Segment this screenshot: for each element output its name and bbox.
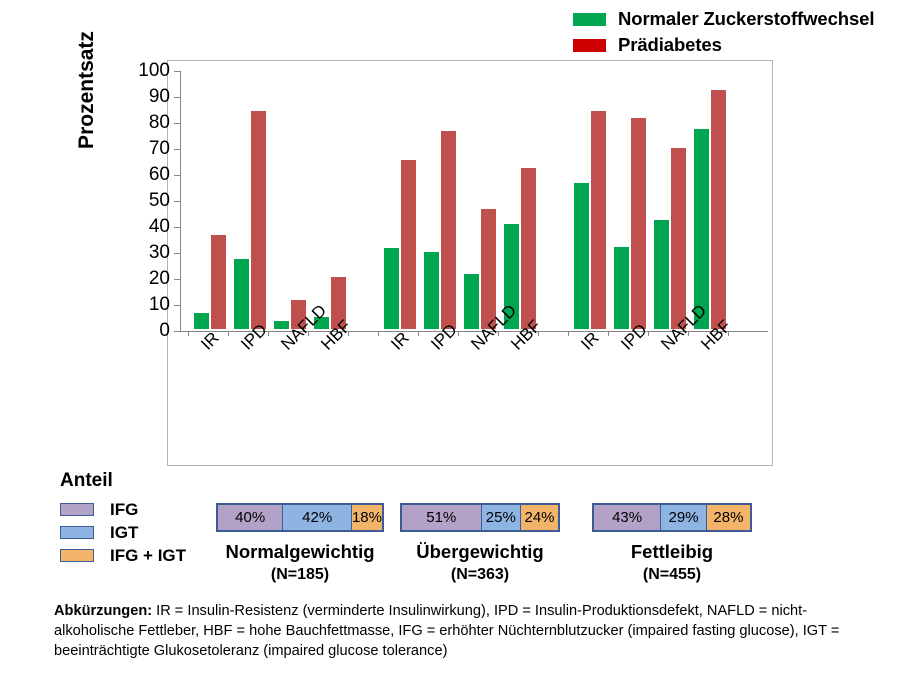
proportion-segment-ifg-plus-igt: 24%	[521, 505, 558, 530]
y-tick-label: 90	[128, 87, 170, 106]
legend-swatch-icon	[573, 13, 606, 26]
bar-praediabetes-fettleibig-ipd	[631, 118, 646, 329]
y-tick-label: 30	[128, 243, 170, 262]
legend-item-label: Prädiabetes	[618, 34, 722, 56]
bar-normal-normalgewichtig-ipd	[234, 259, 249, 329]
legend-item-label: Normaler Zuckerstoffwechsel	[618, 8, 874, 30]
bar-praediabetes-normalgewichtig-ipd	[251, 111, 266, 329]
bar-praediabetes-fettleibig-nafld	[671, 148, 686, 329]
x-tick-mark	[228, 331, 229, 336]
y-tick-label: 40	[128, 217, 170, 236]
bar-praediabetes-übergewichtig-nafld	[481, 209, 496, 329]
bar-praediabetes-normalgewichtig-ir	[211, 235, 226, 329]
anteil-legend: Anteil IFGIGTIFG + IGT	[60, 470, 186, 567]
anteil-legend-label: IGT	[110, 523, 138, 543]
proportion-stacked-bar: 40%42%18%	[216, 503, 384, 532]
x-tick-mark	[378, 331, 379, 336]
y-axis-title: Prozentsatz	[75, 0, 99, 205]
footnote: Abkürzungen: IR = Insulin-Resistenz (ver…	[54, 601, 854, 661]
y-tick-label: 100	[128, 61, 170, 80]
proportion-group-count: (N=185)	[216, 566, 384, 584]
anteil-swatch-icon	[60, 549, 94, 562]
x-axis-label-ir: IR	[388, 329, 412, 353]
y-tick-label: 50	[128, 191, 170, 210]
y-tick-mark	[174, 305, 181, 306]
y-tick-mark	[174, 253, 181, 254]
proportion-group-name: Übergewichtig	[400, 541, 560, 563]
anteil-legend-rows: IFGIGTIFG + IGT	[60, 498, 186, 567]
bar-normal-fettleibig-nafld	[654, 220, 669, 329]
footnote-lead: Abkürzungen:	[54, 603, 152, 619]
proportion-block: 40%42%18%Normalgewichtig(N=185)	[216, 503, 384, 584]
plot-area: 0102030405060708090100 IRIPDNAFLDHBFIRIP…	[167, 60, 773, 466]
x-tick-mark	[188, 331, 189, 336]
bar-normal-normalgewichtig-nafld	[274, 321, 289, 329]
y-tick-label: 80	[128, 113, 170, 132]
y-tick-mark	[174, 175, 181, 176]
y-tick-label: 60	[128, 165, 170, 184]
proportion-segment-ifg-plus-igt: 18%	[352, 505, 382, 530]
x-axis-label-ir: IR	[198, 329, 222, 353]
proportion-segment-igt: 29%	[661, 505, 707, 530]
y-tick-mark	[174, 279, 181, 280]
legend-item: Normaler Zuckerstoffwechsel	[573, 6, 874, 32]
proportion-group-count: (N=363)	[400, 566, 560, 584]
x-tick-mark	[418, 331, 419, 336]
y-tick-label: 10	[128, 295, 170, 314]
proportion-segment-ifg-plus-igt: 28%	[707, 505, 750, 530]
y-tick-label: 20	[128, 269, 170, 288]
x-axis-label-ir: IR	[578, 329, 602, 353]
bar-praediabetes-übergewichtig-hbf	[521, 168, 536, 329]
bar-praediabetes-übergewichtig-ipd	[441, 131, 456, 329]
proportion-group-name: Normalgewichtig	[216, 541, 384, 563]
proportion-block: 51%25%24%Übergewichtig(N=363)	[400, 503, 560, 584]
proportion-group-name: Fettleibig	[592, 541, 752, 563]
y-tick-mark	[174, 97, 181, 98]
proportion-group-count: (N=455)	[592, 566, 752, 584]
bar-normal-fettleibig-ir	[574, 183, 589, 329]
anteil-legend-item: IFG	[60, 498, 186, 521]
bar-normal-übergewichtig-ipd	[424, 252, 439, 329]
anteil-legend-title: Anteil	[60, 470, 186, 492]
bar-normal-normalgewichtig-ir	[194, 313, 209, 329]
bar-praediabetes-übergewichtig-ir	[401, 160, 416, 329]
y-tick-mark	[174, 331, 181, 332]
proportion-segment-igt: 25%	[482, 505, 522, 530]
bar-normal-übergewichtig-ir	[384, 248, 399, 329]
footnote-text: IR = Insulin-Resistenz (verminderte Insu…	[54, 603, 839, 659]
y-tick-mark	[174, 149, 181, 150]
y-tick-label: 0	[128, 321, 170, 340]
legend-swatch-icon	[573, 39, 606, 52]
bar-normal-fettleibig-ipd	[614, 247, 629, 329]
anteil-swatch-icon	[60, 526, 94, 539]
y-tick-mark	[174, 123, 181, 124]
anteil-swatch-icon	[60, 503, 94, 516]
y-tick-mark	[174, 71, 181, 72]
legend-item: Prädiabetes	[573, 32, 874, 58]
x-tick-mark	[608, 331, 609, 336]
bar-normal-fettleibig-hbf	[694, 129, 709, 329]
bar-praediabetes-fettleibig-hbf	[711, 90, 726, 329]
anteil-legend-item: IGT	[60, 521, 186, 544]
proportion-segment-ifg: 51%	[402, 505, 482, 530]
anteil-legend-label: IFG	[110, 500, 138, 520]
anteil-legend-item: IFG + IGT	[60, 544, 186, 567]
chart-legend: Normaler ZuckerstoffwechselPrädiabetes	[573, 6, 874, 58]
proportion-segment-ifg: 43%	[594, 505, 661, 530]
x-tick-mark	[568, 331, 569, 336]
proportion-block: 43%29%28%Fettleibig(N=455)	[592, 503, 752, 584]
proportion-stacked-bar: 43%29%28%	[592, 503, 752, 532]
proportion-segment-ifg: 40%	[218, 505, 283, 530]
proportion-segment-igt: 42%	[283, 505, 352, 530]
y-tick-mark	[174, 227, 181, 228]
y-tick-label: 70	[128, 139, 170, 158]
proportion-stacked-bar: 51%25%24%	[400, 503, 560, 532]
anteil-legend-label: IFG + IGT	[110, 546, 186, 566]
bar-normal-übergewichtig-nafld	[464, 274, 479, 329]
y-tick-mark	[174, 201, 181, 202]
bar-praediabetes-fettleibig-ir	[591, 111, 606, 329]
